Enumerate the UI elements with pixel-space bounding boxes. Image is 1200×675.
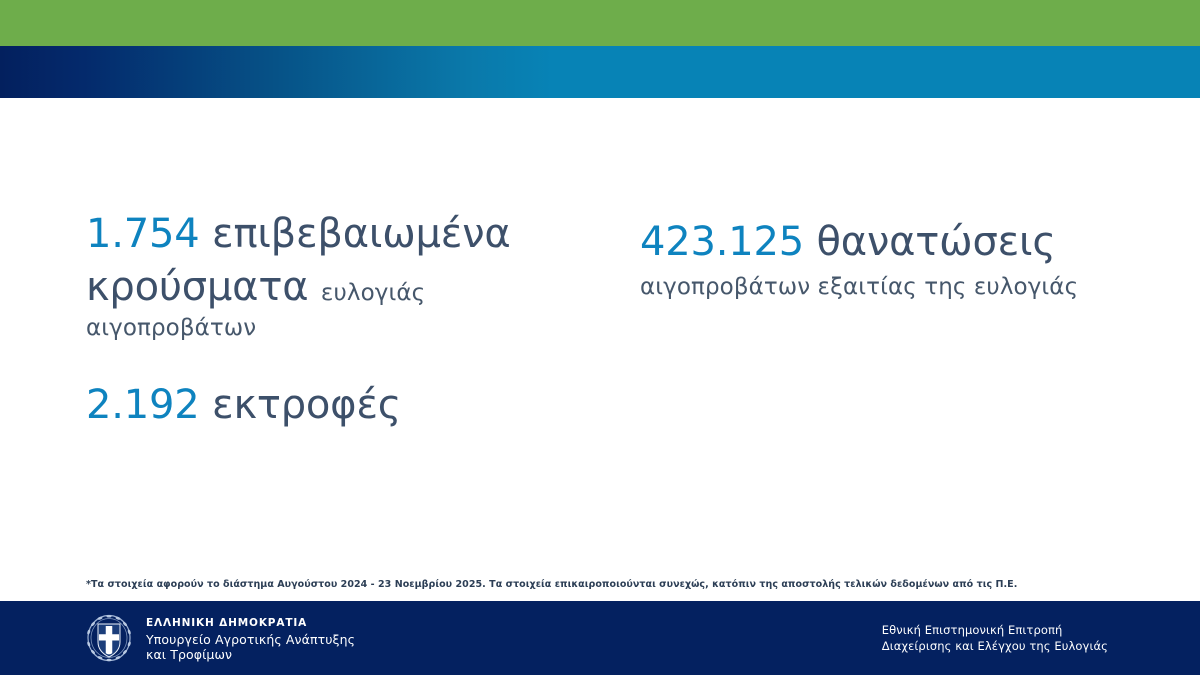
greek-coat-of-arms-icon: [86, 614, 132, 662]
stat-confirmed-cases-value: 1.754: [86, 211, 200, 257]
title-blue-band: Συγκεντρωτικά Στοιχεία*: [0, 46, 1200, 98]
stat-farms-line: 2.192 εκτροφές: [86, 379, 616, 432]
stat-culls-line: 423.125 θανατώσεις: [640, 216, 1140, 269]
top-green-band: [0, 0, 1200, 46]
ministry-text: ΕΛΛΗΝΙΚΗ ΔΗΜΟΚΡΑΤΙΑ Υπουργείο Αγροτικής …: [146, 614, 355, 663]
stat-confirmed-cases-sub-inline: ευλογιάς: [321, 280, 425, 306]
stat-confirmed-cases-line: 1.754 επιβεβαιωμένα κρούσματα ευλογιάς: [86, 208, 616, 314]
stat-culls-value: 423.125: [640, 219, 804, 265]
committee-line-1: Εθνική Επιστημονική Επιτροπή: [882, 623, 1108, 639]
stat-confirmed-cases: 1.754 επιβεβαιωμένα κρούσματα ευλογιάς α…: [86, 208, 616, 345]
committee-text: Εθνική Επιστημονική Επιτροπή Διαχείρισης…: [882, 623, 1108, 654]
stat-farms-value: 2.192: [86, 382, 200, 428]
stats-area: 1.754 επιβεβαιωμένα κρούσματα ευλογιάς α…: [0, 98, 1200, 568]
stats-column-right: 423.125 θανατώσεις αιγοπροβάτων εξαιτίας…: [640, 216, 1140, 303]
stats-column-left: 1.754 επιβεβαιωμένα κρούσματα ευλογιάς α…: [86, 208, 616, 432]
footnote-text: *Τα στοιχεία αφορούν το διάστημα Αυγούστ…: [86, 579, 1106, 591]
ministry-line-3: και Τροφίμων: [146, 647, 355, 663]
stat-confirmed-cases-sub: αιγοπροβάτων: [86, 312, 616, 344]
stat-culls: 423.125 θανατώσεις αιγοπροβάτων εξαιτίας…: [640, 216, 1140, 303]
stat-farms-label: εκτροφές: [212, 382, 401, 428]
stat-culls-sub: αιγοπροβάτων εξαιτίας της ευλογιάς: [640, 271, 1140, 303]
footer-branding: ΕΛΛΗΝΙΚΗ ΔΗΜΟΚΡΑΤΙΑ Υπουργείο Αγροτικής …: [86, 614, 355, 663]
ministry-line-2: Υπουργείο Αγροτικής Ανάπτυξης: [146, 632, 355, 648]
footer-bar: ΕΛΛΗΝΙΚΗ ΔΗΜΟΚΡΑΤΙΑ Υπουργείο Αγροτικής …: [0, 601, 1200, 675]
slide-root: Συγκεντρωτικά Στοιχεία* 1.754 επιβεβαιωμ…: [0, 0, 1200, 675]
stat-culls-label: θανατώσεις: [817, 219, 1056, 265]
committee-line-2: Διαχείρισης και Ελέγχου της Ευλογιάς: [882, 639, 1108, 655]
ministry-line-1: ΕΛΛΗΝΙΚΗ ΔΗΜΟΚΡΑΤΙΑ: [146, 616, 355, 632]
stat-farms: 2.192 εκτροφές: [86, 379, 616, 432]
